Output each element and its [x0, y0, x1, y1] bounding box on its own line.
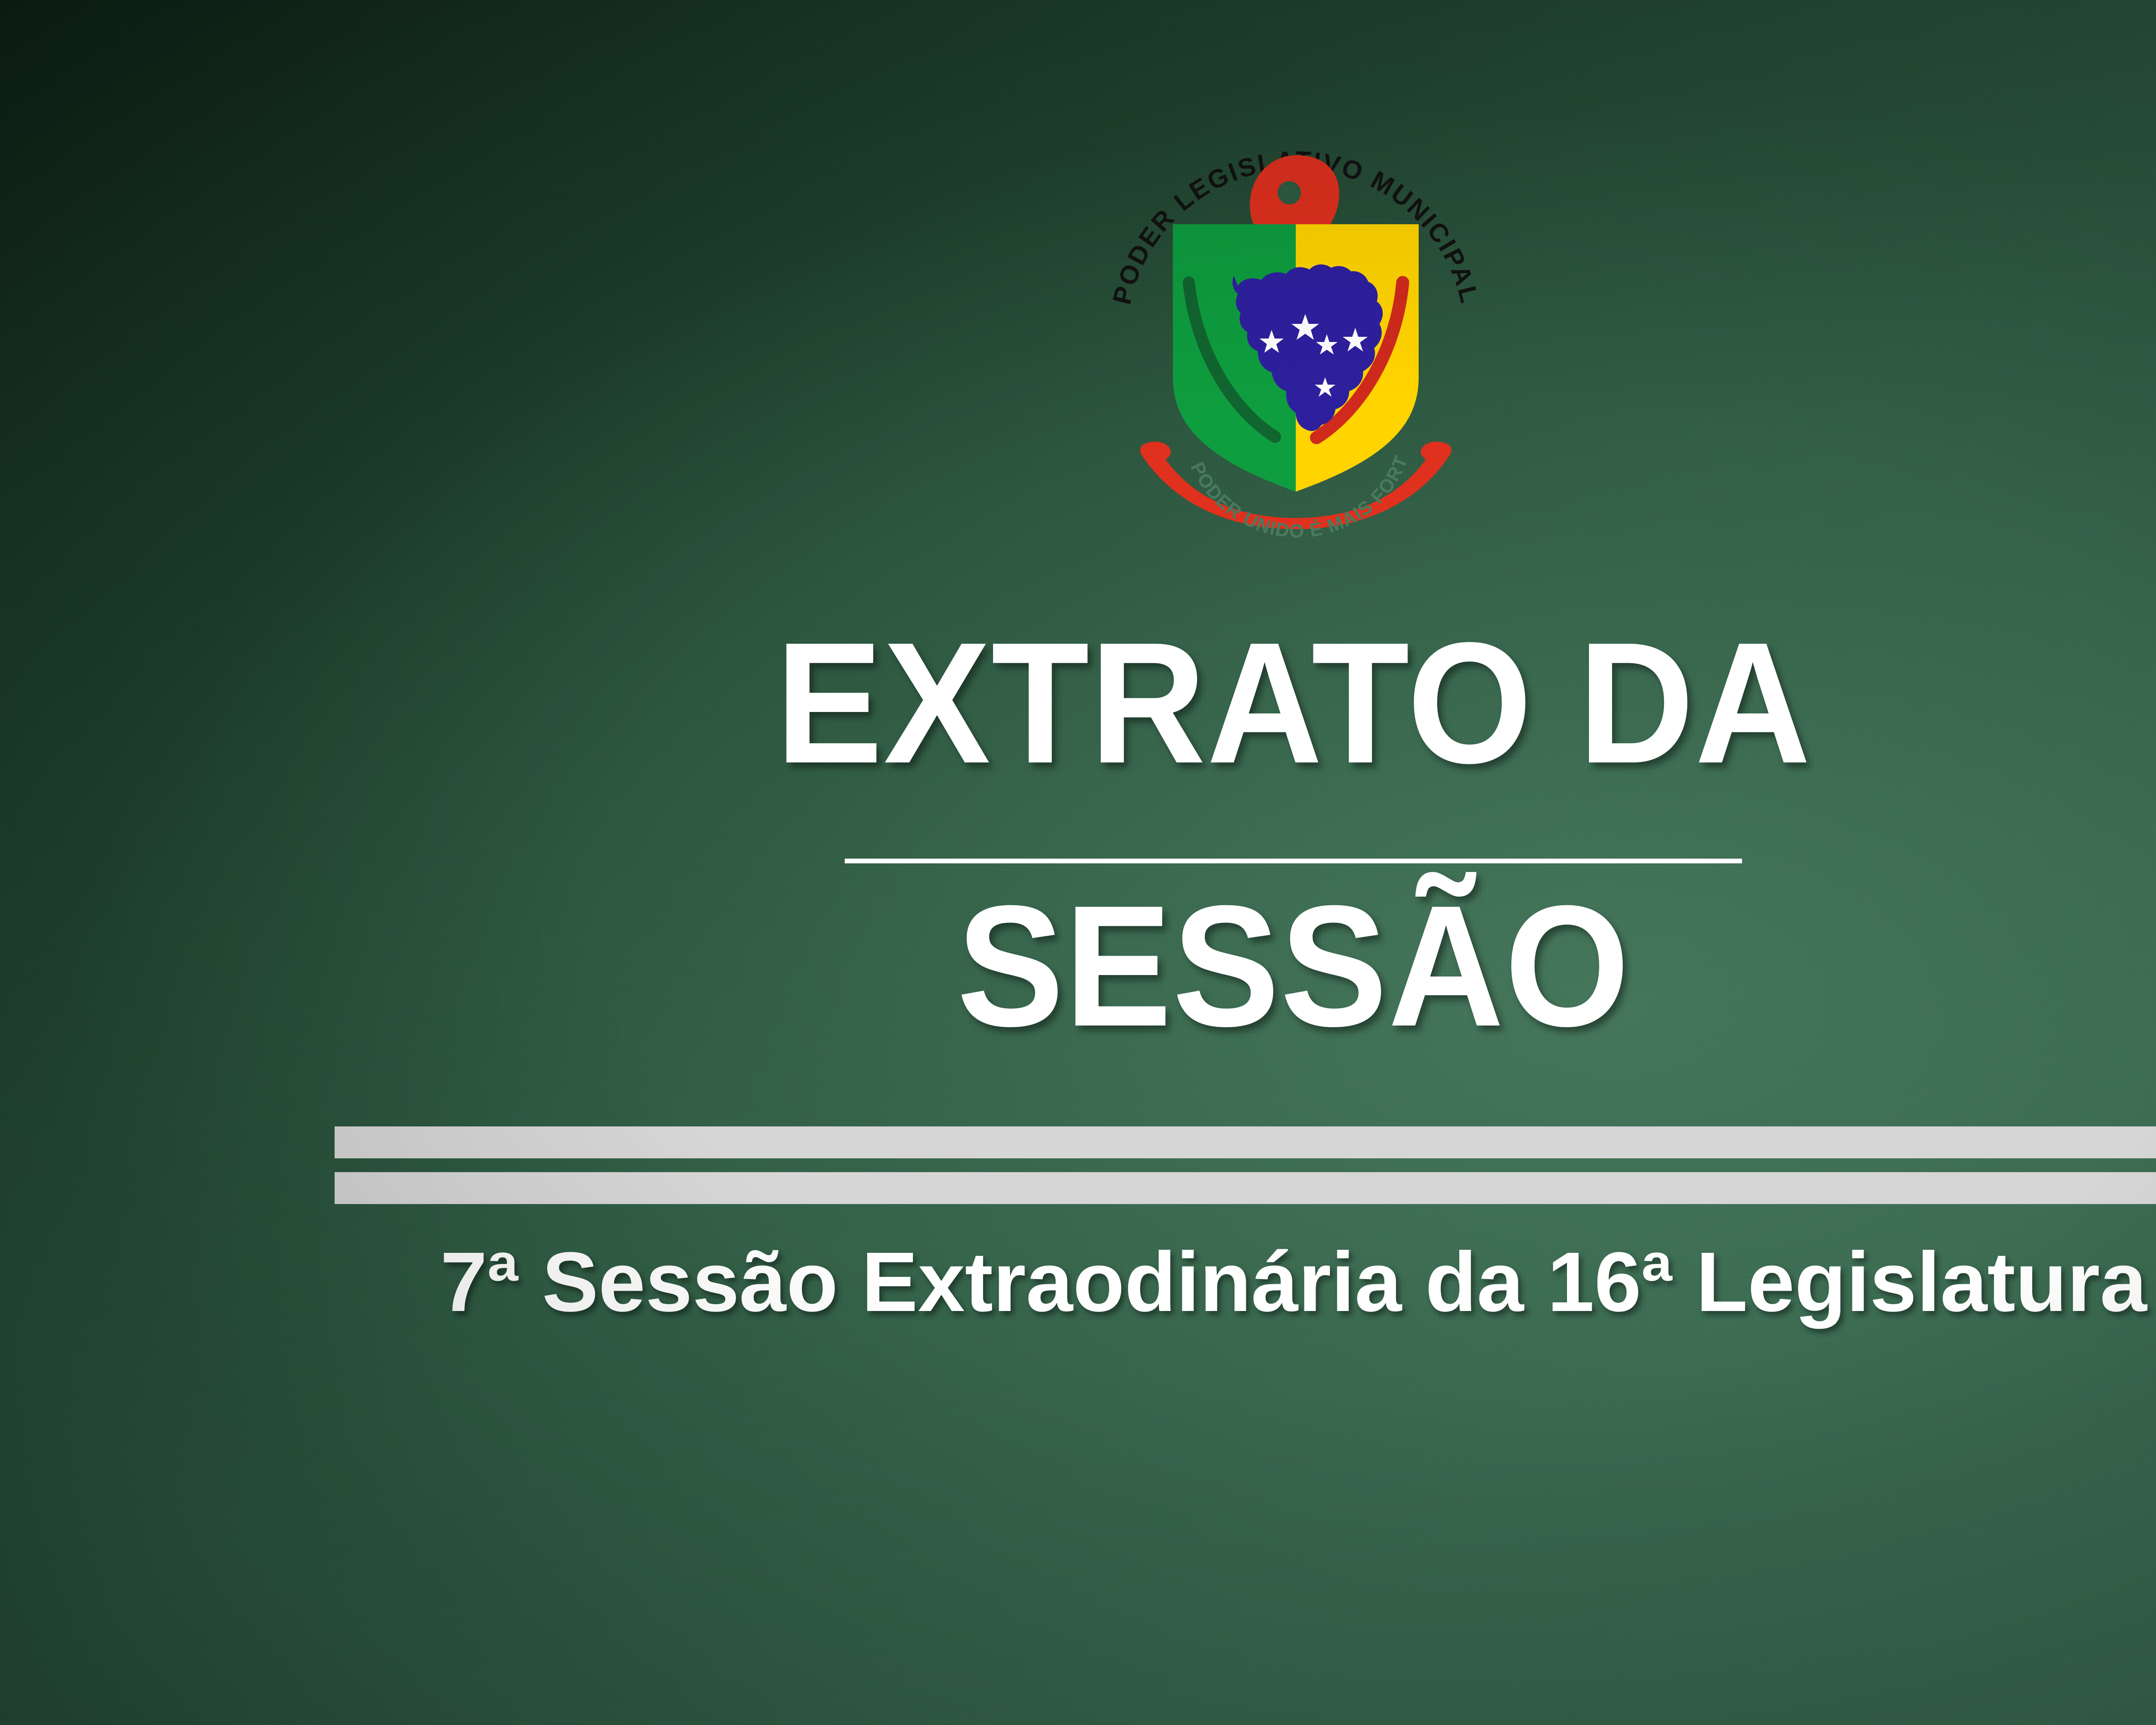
page-title-line-2: SESSÃO	[91, 880, 2156, 1052]
page-title-line-1: EXTRATO DA	[91, 617, 2156, 789]
emblem: PODER LEGISLATIVO MUNICIPAL	[1080, 80, 1511, 541]
poster-canvas: PODER LEGISLATIVO MUNICIPAL	[0, 0, 2156, 1725]
separator-bar-bottom	[335, 1172, 2156, 1204]
separator-bar-top	[335, 1126, 2156, 1158]
session-subtitle: 7ª Sessão Extraodinária da 16ª Legislatu…	[0, 1236, 2156, 1329]
title-divider-rule	[845, 859, 1742, 863]
emblem-svg: PODER LEGISLATIVO MUNICIPAL	[1080, 80, 1511, 541]
